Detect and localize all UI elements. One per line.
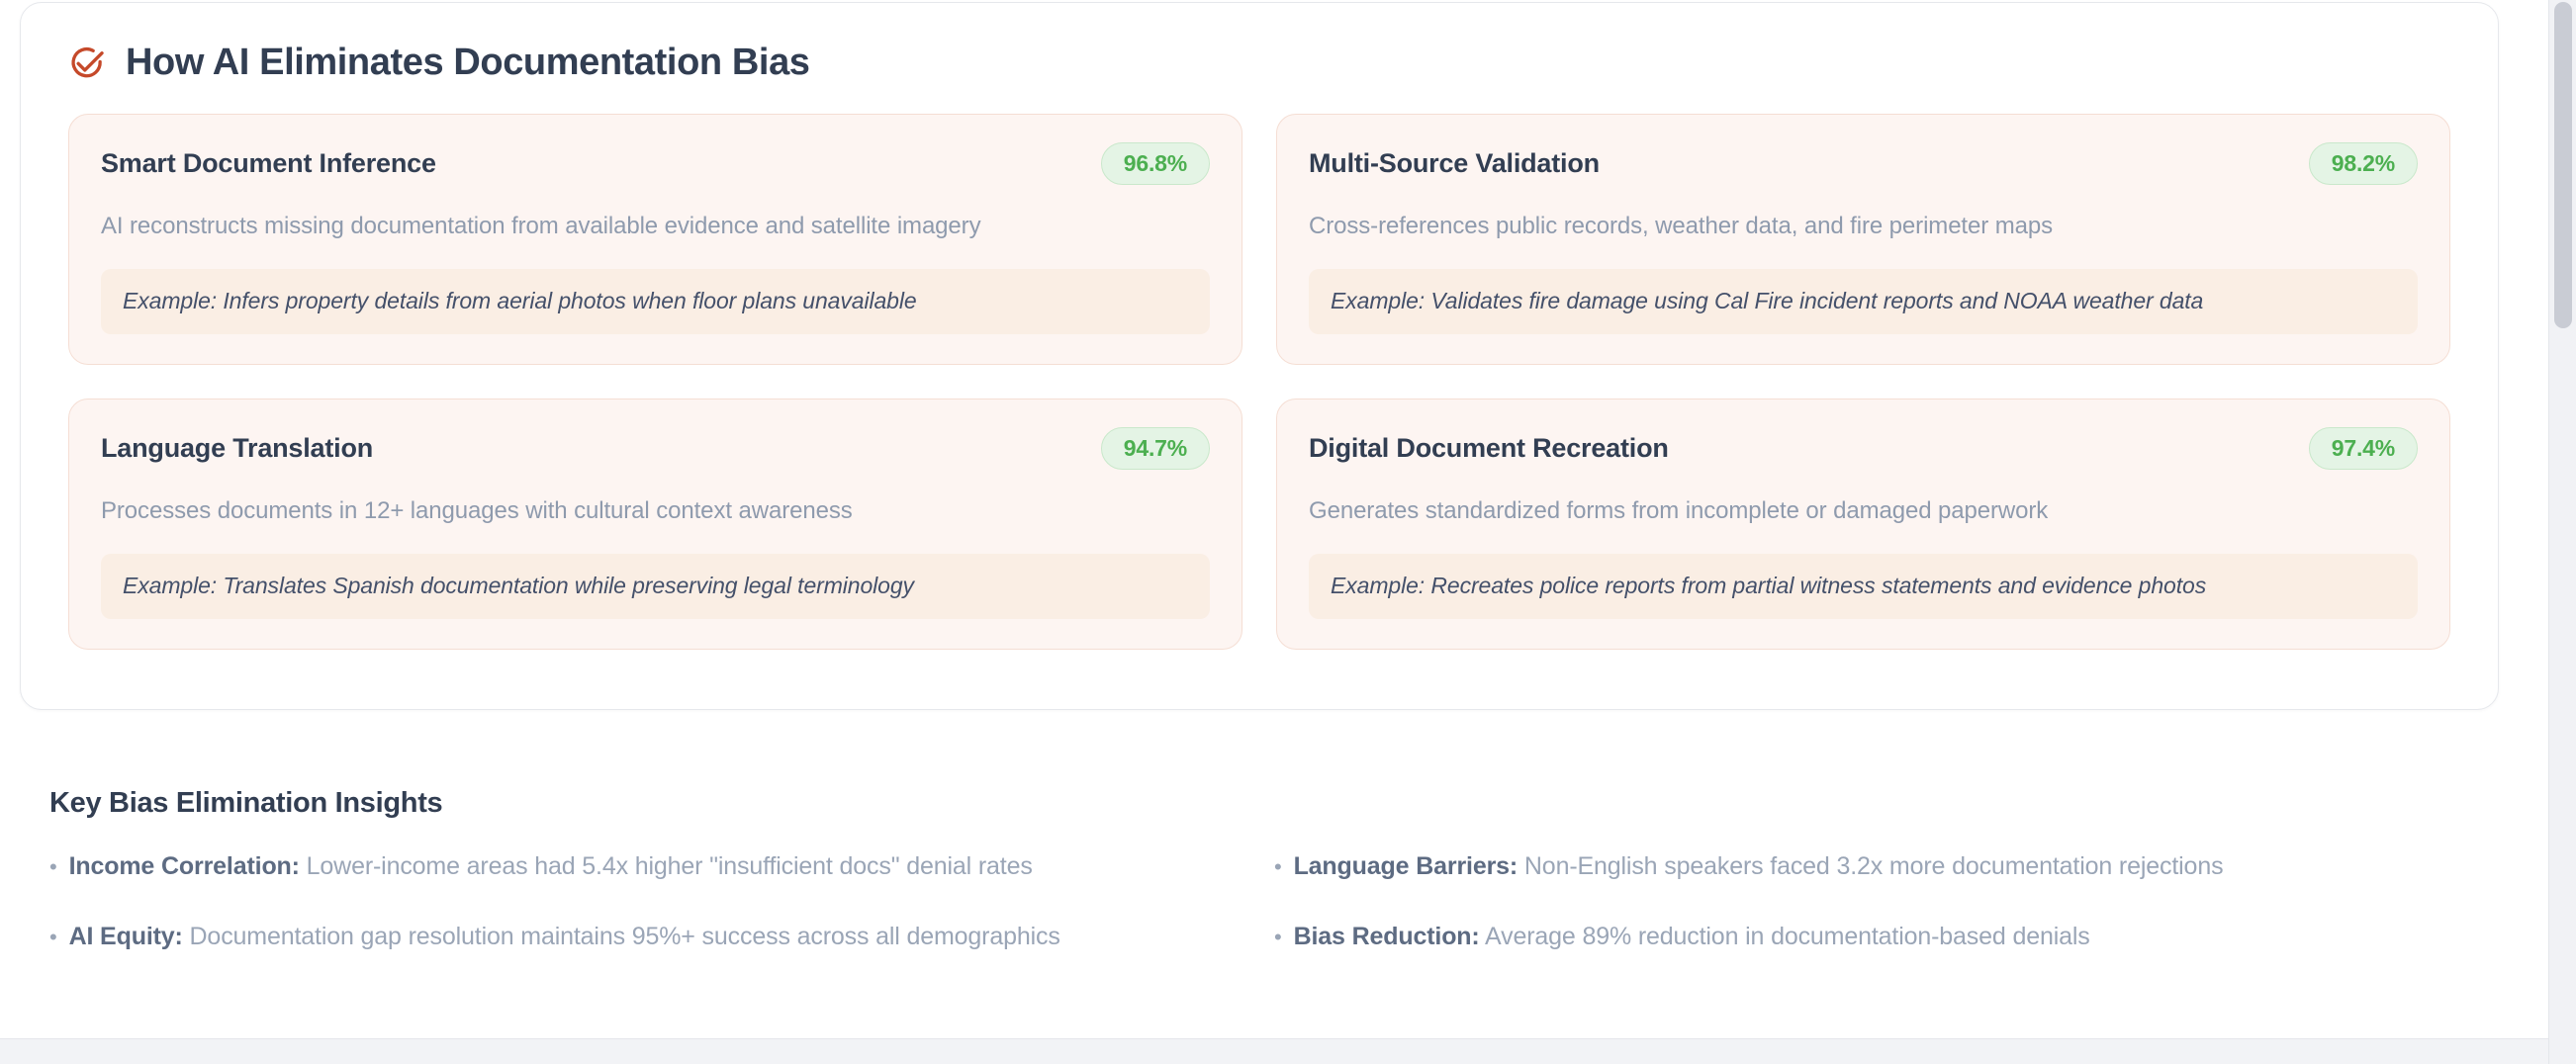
- page-title: How AI Eliminates Documentation Bias: [126, 43, 810, 84]
- panel-header: How AI Eliminates Documentation Bias: [21, 3, 2498, 84]
- accuracy-badge: 94.7%: [1101, 427, 1210, 471]
- card-description: Cross-references public records, weather…: [1309, 211, 2418, 242]
- insight-text: Average 89% reduction in documentation-b…: [1485, 923, 2090, 950]
- insight-text: Documentation gap resolution maintains 9…: [190, 923, 1060, 950]
- vertical-scrollbar[interactable]: [2548, 0, 2576, 1064]
- insight-label: Language Barriers:: [1294, 852, 1518, 880]
- card-title: Multi-Source Validation: [1309, 147, 1600, 179]
- insights-grid: • Income Correlation: Lower-income areas…: [49, 851, 2453, 953]
- card-description: AI reconstructs missing documentation fr…: [101, 211, 1210, 242]
- card-example: Example: Validates fire damage using Cal…: [1309, 269, 2418, 334]
- check-circle-icon: [68, 44, 106, 82]
- list-item: • Language Barriers: Non-English speaker…: [1274, 851, 2453, 882]
- feature-card-multi-source-validation[interactable]: Multi-Source Validation 98.2% Cross-refe…: [1276, 114, 2450, 365]
- scrollbar-thumb[interactable]: [2554, 2, 2572, 328]
- bullet-icon: •: [1274, 927, 1282, 948]
- page-footer-strip: [0, 1039, 2548, 1064]
- card-title: Smart Document Inference: [101, 147, 436, 179]
- card-description: Processes documents in 12+ languages wit…: [101, 495, 1210, 527]
- insight-text: Non-English speakers faced 3.2x more doc…: [1524, 852, 2224, 880]
- accuracy-badge: 96.8%: [1101, 142, 1210, 186]
- list-item: • Income Correlation: Lower-income areas…: [49, 851, 1229, 882]
- list-item: • AI Equity: Documentation gap resolutio…: [49, 922, 1229, 952]
- card-header: Smart Document Inference 96.8%: [101, 142, 1210, 186]
- accuracy-badge: 98.2%: [2309, 142, 2418, 186]
- card-description: Generates standardized forms from incomp…: [1309, 495, 2418, 527]
- card-example: Example: Translates Spanish documentatio…: [101, 554, 1210, 619]
- insight-label: Income Correlation:: [69, 852, 300, 880]
- list-item: • Bias Reduction: Average 89% reduction …: [1274, 922, 2453, 952]
- card-header: Multi-Source Validation 98.2%: [1309, 142, 2418, 186]
- card-example: Example: Infers property details from ae…: [101, 269, 1210, 334]
- feature-card-digital-document-recreation[interactable]: Digital Document Recreation 97.4% Genera…: [1276, 399, 2450, 650]
- insight-text: Lower-income areas had 5.4x higher "insu…: [307, 852, 1033, 880]
- insights-title: Key Bias Elimination Insights: [49, 787, 2453, 820]
- insight-label: Bias Reduction:: [1294, 923, 1480, 950]
- bullet-icon: •: [49, 856, 57, 878]
- documentation-bias-panel: How AI Eliminates Documentation Bias Sma…: [20, 2, 2499, 710]
- key-insights-section: Key Bias Elimination Insights • Income C…: [49, 787, 2453, 953]
- card-title: Digital Document Recreation: [1309, 432, 1669, 464]
- page-content: How AI Eliminates Documentation Bias Sma…: [0, 0, 2548, 1064]
- card-title: Language Translation: [101, 432, 373, 464]
- card-example: Example: Recreates police reports from p…: [1309, 554, 2418, 619]
- card-header: Digital Document Recreation 97.4%: [1309, 427, 2418, 471]
- card-header: Language Translation 94.7%: [101, 427, 1210, 471]
- bullet-icon: •: [1274, 856, 1282, 878]
- bullet-icon: •: [49, 927, 57, 948]
- page-root: How AI Eliminates Documentation Bias Sma…: [0, 0, 2576, 1064]
- feature-card-smart-document-inference[interactable]: Smart Document Inference 96.8% AI recons…: [68, 114, 1242, 365]
- feature-card-language-translation[interactable]: Language Translation 94.7% Processes doc…: [68, 399, 1242, 650]
- accuracy-badge: 97.4%: [2309, 427, 2418, 471]
- insight-label: AI Equity:: [69, 923, 183, 950]
- feature-card-grid: Smart Document Inference 96.8% AI recons…: [21, 84, 2498, 693]
